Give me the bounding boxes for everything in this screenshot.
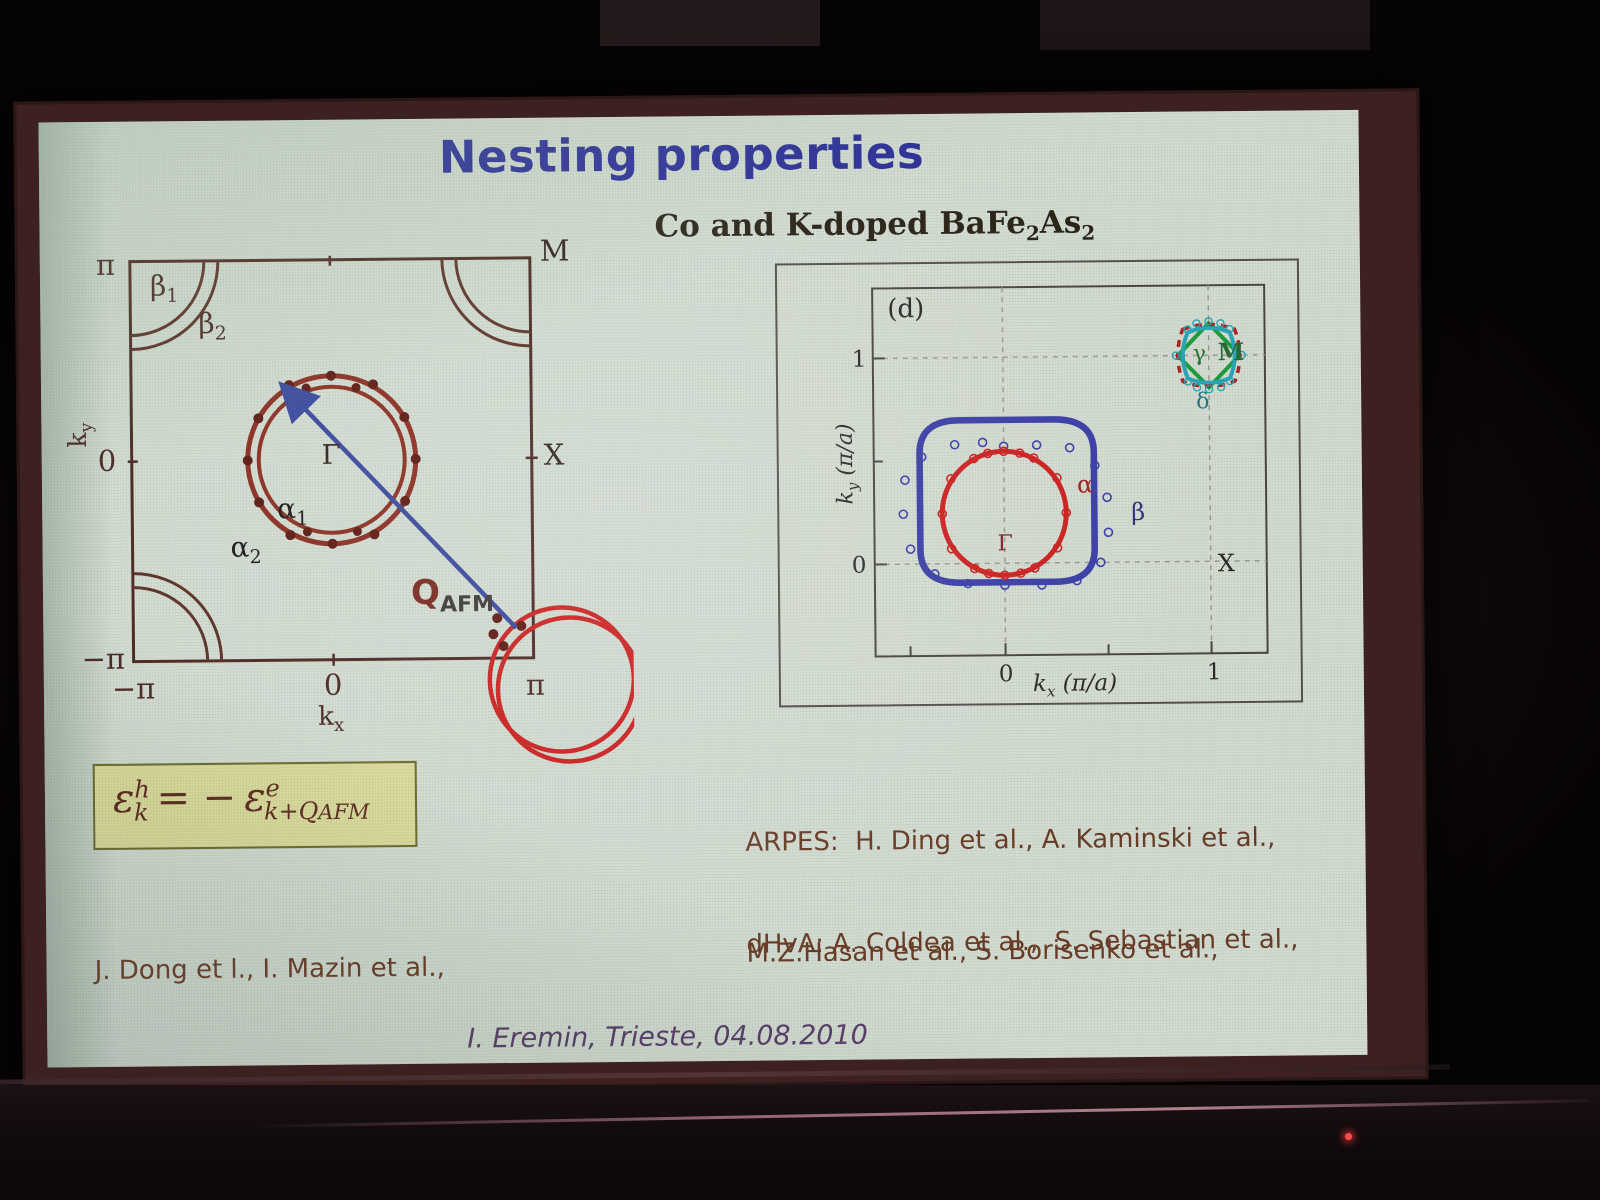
ytick-zero: 0 <box>98 444 117 478</box>
xtick-zero: 0 <box>324 668 343 702</box>
label-beta: β <box>1131 498 1145 526</box>
axis-label-kx: kx (π/a) <box>1033 670 1118 700</box>
axis-label-ky: ky (π/a) <box>833 423 862 504</box>
label-gamma: γ <box>1193 341 1206 366</box>
ytick-pi: π <box>96 248 115 282</box>
lecture-room-background: Nesting properties Co and K-doped BaFe2A… <box>0 0 1600 1200</box>
axis-label-ky: ky <box>63 423 97 448</box>
label-X: X <box>544 437 565 471</box>
ceiling-panel-right <box>1040 0 1370 50</box>
equipment-led-indicator <box>1345 1133 1352 1140</box>
xtick-neg-pi: −π <box>112 671 156 705</box>
arpes-figure-panel: (d) 1 0 0 1 kx (π/a) ky (π/a) α β Γ M γ … <box>775 258 1303 707</box>
nesting-condition-formula: εhk= −εek+QAFM <box>113 773 370 827</box>
formula-box: εhk= −εek+QAFM <box>93 761 418 850</box>
label-beta-2: β2 <box>198 307 227 345</box>
label-alpha-1: α1 <box>277 492 308 530</box>
xtick-0: 0 <box>999 661 1014 687</box>
subtitle-mid: As <box>1040 205 1082 241</box>
slide-footer: I. Eremin, Trieste, 04.08.2010 <box>467 1020 868 1055</box>
dhva-references-list: dHvA: A. Coldea et al., S. Sebastian et … <box>746 847 1300 1037</box>
subtitle-sub-2: 2 <box>1081 221 1095 245</box>
list-item: J. Dong et l., I. Mazin et al., <box>94 949 548 990</box>
bz-svg <box>70 227 636 812</box>
ytick-0: 0 <box>852 553 867 579</box>
foreground-bench <box>0 1085 1600 1200</box>
list-item: S. Raghu et al., K. Kuroki et al, ... <box>96 1060 550 1068</box>
label-M: M <box>540 233 570 267</box>
slide-subtitle: Co and K-doped BaFe2As2 <box>654 204 1095 248</box>
ytick-1: 1 <box>852 347 867 373</box>
projection-screen-frame: Nesting properties Co and K-doped BaFe2A… <box>13 88 1428 1092</box>
label-alpha: α <box>1077 470 1093 498</box>
presentation-slide: Nesting properties Co and K-doped BaFe2A… <box>38 110 1367 1068</box>
label-beta-1: β1 <box>150 269 179 307</box>
brillouin-zone-diagram: π 0 −π −π 0 π ky kx M X β1 β2 Γ α1 α2 QA… <box>70 227 636 812</box>
label-X-point: X <box>1218 549 1235 577</box>
label-delta: δ <box>1196 389 1209 414</box>
label-M-point: M <box>1218 337 1245 366</box>
xtick-pi: π <box>526 668 545 702</box>
ceiling-panel-left <box>600 0 820 46</box>
xtick-1: 1 <box>1207 659 1222 685</box>
axis-label-kx: kx <box>318 702 344 736</box>
page-title: Nesting properties <box>439 126 925 184</box>
subtitle-sub-1: 2 <box>1026 221 1040 245</box>
list-item: dHvA: A. Coldea et al., S. Sebastian et … <box>746 921 1298 963</box>
panel-label-d: (d) <box>887 294 924 324</box>
label-gamma-point: Γ <box>997 531 1013 556</box>
label-q-afm: QAFM <box>411 572 494 618</box>
label-gamma-point: Γ <box>322 440 341 471</box>
beta-pocket-markers <box>899 437 1113 590</box>
subtitle-main: Co and K-doped BaFe <box>654 205 1026 245</box>
label-alpha-2: α2 <box>230 530 261 568</box>
